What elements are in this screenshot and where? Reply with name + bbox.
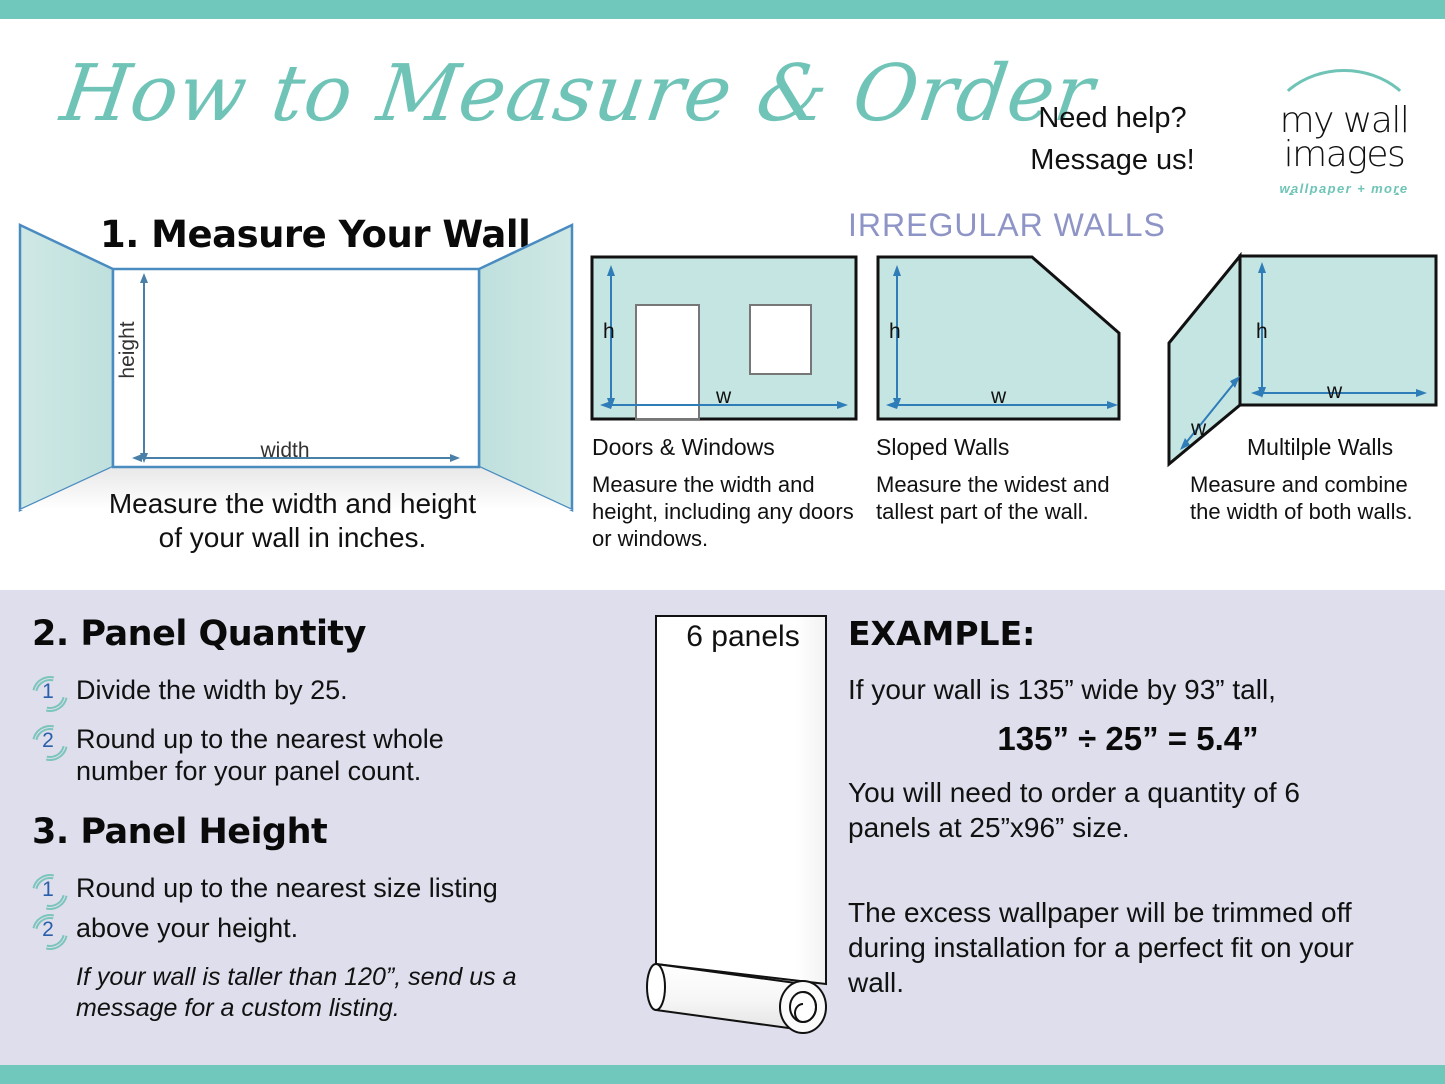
bullet-badge-icon: 2 (32, 914, 66, 948)
page-title: How to Measure & Order (57, 55, 998, 133)
step1-caption-line2: of your wall in inches. (20, 521, 565, 555)
bullet-badge-icon: 2 (32, 725, 66, 759)
step2-bullet-2: 2 Round up to the nearest whole number f… (32, 723, 512, 788)
step1-caption: Measure the width and height of your wal… (20, 487, 565, 554)
sloped-walls-body: Measure the widest and tallest part of t… (876, 472, 1148, 526)
roll-panel-count-label: 6 panels (648, 620, 838, 654)
multiple-walls-body: Measure and combine the width of both wa… (1190, 472, 1440, 526)
logo-word-2: images (1258, 137, 1430, 173)
sloped-walls-w-label: w (991, 385, 1006, 409)
step3-bullet-1-text: Round up to the nearest size listing (76, 872, 498, 904)
width-label: width (260, 439, 309, 463)
wallpaper-roll-illustration (640, 612, 840, 1042)
step2-bullet-2-text: Round up to the nearest whole number for… (76, 723, 512, 788)
doors-windows-w-label: w (716, 385, 731, 409)
measure-section: 1. Measure Your Wall (0, 195, 1445, 590)
bottom-accent-band (0, 1065, 1445, 1084)
doors-windows-body: Measure the width and height, including … (592, 472, 860, 552)
bullet-number: 2 (32, 725, 64, 757)
doors-windows-h-label: h (603, 320, 615, 344)
example-line-3: The excess wallpaper will be trimmed off… (848, 895, 1388, 1000)
step2-bullet-1: 1 Divide the width by 25. (32, 674, 562, 710)
step3-bullet-1: 1 Round up to the nearest size listing (32, 872, 577, 908)
step3-note: If your wall is taller than 120”, send u… (76, 962, 546, 1025)
brand-logo: my wall images wallpaper + more (1258, 67, 1430, 207)
example-title: EXAMPLE: (848, 614, 1035, 653)
step3-bullet-2: 2 above your height. (32, 912, 577, 948)
multiple-walls-h-label: h (1256, 320, 1268, 344)
step2-bullet-1-text: Divide the width by 25. (76, 674, 348, 706)
example-line-2: You will need to order a quantity of 6 p… (848, 775, 1388, 845)
bullet-number: 1 (32, 874, 64, 906)
bullet-badge-icon: 1 (32, 874, 66, 908)
step3-title: 3. Panel Height (32, 812, 327, 852)
bullet-number: 2 (32, 914, 64, 946)
header: How to Measure & Order Need help? Messag… (0, 19, 1445, 195)
multiple-walls-label: Multilple Walls (1247, 434, 1393, 461)
need-help-line2: Message us! (1005, 139, 1220, 181)
sloped-walls-diagram (876, 255, 1144, 421)
height-label: height (116, 321, 140, 378)
multiple-walls-w-label: w (1327, 380, 1342, 404)
step2-title: 2. Panel Quantity (32, 614, 366, 654)
bullet-badge-icon: 1 (32, 676, 66, 710)
need-help-block: Need help? Message us! (1005, 97, 1220, 181)
step1-caption-line1: Measure the width and height (20, 487, 565, 521)
panel-calc-section: 2. Panel Quantity 1 Divide the width by … (0, 590, 1445, 1065)
room-diagram (16, 215, 576, 515)
sloped-walls-label: Sloped Walls (876, 434, 1009, 461)
logo-tagline: wallpaper + more (1258, 181, 1430, 196)
infographic-page: How to Measure & Order Need help? Messag… (0, 0, 1445, 1084)
doors-windows-label: Doors & Windows (592, 434, 775, 461)
example-equation: 135” ÷ 25” = 5.4” (848, 720, 1408, 758)
top-accent-band (0, 0, 1445, 19)
sloped-walls-h-label: h (889, 320, 901, 344)
step3-bullet-2-text: above your height. (76, 912, 298, 944)
bullet-number: 1 (32, 676, 64, 708)
example-line-1: If your wall is 135” wide by 93” tall, (848, 672, 1418, 707)
irregular-walls-heading: IRREGULAR WALLS (848, 207, 1166, 244)
multiple-walls-w-label-side: w (1191, 417, 1206, 441)
need-help-line1: Need help? (1005, 97, 1220, 139)
